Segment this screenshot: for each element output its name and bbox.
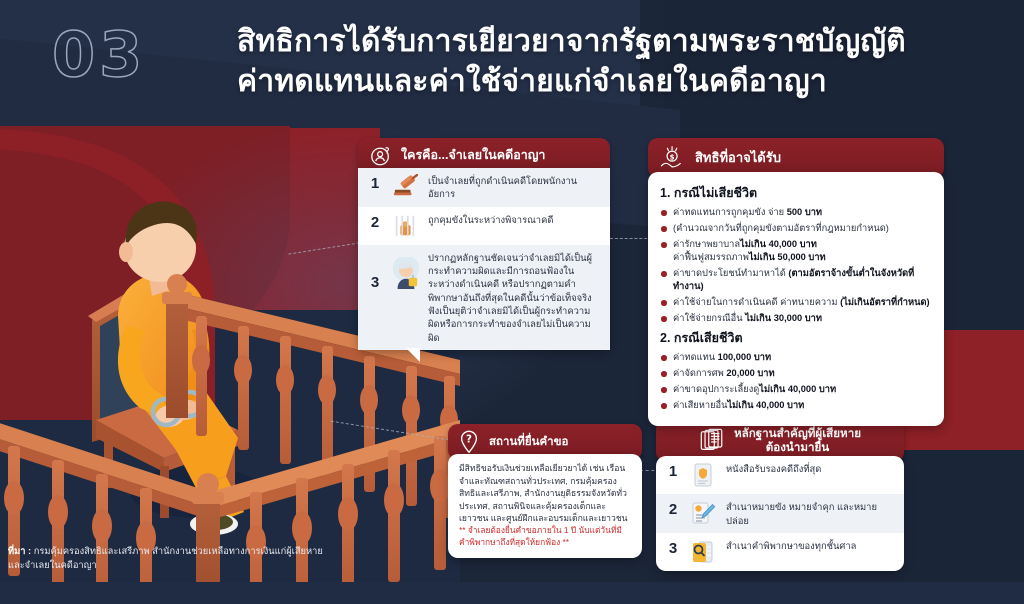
signed-warrant-icon bbox=[688, 500, 718, 526]
card-docs-title: หลักฐานสำคัญที่ผู้เสียหาย ต้องนำมายื่น bbox=[734, 427, 861, 455]
page-title-line-1: สิทธิการได้รับการเยียวยาจากรัฐตามพระราชบ… bbox=[237, 25, 906, 58]
list-item[interactable]: 3 ปรากฏหลักฐานชัดเจนว่าจำเลยมิได้เป็นผู้… bbox=[358, 245, 610, 350]
card-docs-body: 1 หนังสือรับรองคดีถึงที่สุด 2 bbox=[656, 456, 904, 571]
list-item-number: 1 bbox=[666, 462, 680, 482]
list-item-emphasis: ไม่เกิน 40,000 บาท bbox=[727, 400, 804, 410]
card-where-to-apply: ? สถานที่ยื่นคำขอ มีสิทธิขอรับเงินช่วยเห… bbox=[448, 424, 642, 558]
list-item: ค่ารักษาพยาบาลไม่เกิน 40,000 บาท ค่าฟื้น… bbox=[660, 238, 932, 264]
prisoner-behind-bars-icon bbox=[390, 213, 420, 239]
list-item-number: 1 bbox=[368, 174, 382, 194]
list-item-text: ค่าจัดการศพ bbox=[673, 368, 726, 378]
list-item: ค่าจัดการศพ 20,000 บาท bbox=[660, 367, 932, 380]
list-item: ค่าขาดอุปการะเลี้ยงดูไม่เกิน 40,000 บาท bbox=[660, 383, 932, 396]
list-item-number: 3 bbox=[368, 273, 382, 293]
list-item-text: (คำนวณจากวันที่ถูกคุมขังตามอัตราที่กฎหมา… bbox=[673, 223, 889, 233]
list-item[interactable]: 1 เป็นจำเลยที่ถูกดำเนินคดีโดยพนักงานอัยก… bbox=[358, 168, 610, 207]
list-item-text: ค่าขาดอุปการะเลี้ยงดู bbox=[673, 384, 759, 394]
card-where-title: สถานที่ยื่นคำขอ bbox=[489, 435, 568, 449]
list-item[interactable]: 2 สำเนาหมายขัง หมายจำคุก และหมายปล่อย bbox=[656, 494, 904, 533]
list-item-emphasis: ไม่เกิน 40,000 บาท bbox=[740, 239, 817, 249]
list-item-text: สำเนาหมายขัง หมายจำคุก และหมายปล่อย bbox=[726, 500, 894, 527]
page-title: สิทธิการได้รับการเยียวยาจากรัฐตามพระราชบ… bbox=[237, 22, 1007, 102]
section-number: 03 bbox=[52, 18, 146, 91]
list-item-text: ค่าทดแทน bbox=[673, 352, 718, 362]
list-item-text: ปรากฏหลักฐานชัดเจนว่าจำเลยมิได้เป็นผู้กร… bbox=[428, 251, 600, 344]
list-item: ค่าขาดประโยชน์ทำมาหาได้ (ตามอัตราจ้างขั้… bbox=[660, 267, 932, 293]
list-item-emphasis: 100,000 บาท bbox=[718, 352, 771, 362]
list-item-text: เป็นจำเลยที่ถูกดำเนินคดีโดยพนักงานอัยการ bbox=[428, 174, 600, 201]
card-where-note: ** จำเลยต้องยื่นคำขอภายใน 1 ปี นับแต่วัน… bbox=[459, 525, 632, 549]
list-item-emphasis: ไม่เกิน 40,000 บาท bbox=[759, 384, 836, 394]
list-item-text: ค่าทดแทนการถูกคุมขัง จ่าย bbox=[673, 207, 787, 217]
list-item-emphasis: ไม่เกิน 50,000 บาท bbox=[749, 252, 826, 262]
list-item: ค่าทดแทน 100,000 บาท bbox=[660, 351, 932, 364]
person-question-icon bbox=[370, 145, 392, 167]
rights-section-2-list: ค่าทดแทน 100,000 บาท ค่าจัดการศพ 20,000 … bbox=[660, 351, 932, 412]
list-item-number: 2 bbox=[666, 500, 680, 520]
question-pin-icon: ? bbox=[458, 430, 480, 454]
list-item: ค่าทดแทนการถูกคุมขัง จ่าย 500 บาท bbox=[660, 206, 932, 219]
list-item-text: ค่าใช้จ่ายในการดำเนินคดี ค่าทนายความ bbox=[673, 297, 840, 307]
judge-icon bbox=[390, 257, 420, 291]
list-item: ค่าเสียหายอื่นไม่เกิน 40,000 บาท bbox=[660, 399, 932, 412]
list-item-text: ถูกคุมขังในระหว่างพิจารณาคดี bbox=[428, 213, 553, 226]
document-magnifier-icon bbox=[688, 539, 718, 565]
svg-text:$: $ bbox=[670, 152, 675, 161]
card-possible-rights: $ สิทธิที่อาจได้รับ 1. กรณีไม่เสียชีวิต … bbox=[648, 138, 944, 426]
list-item-text: ค่าใช้จ่ายกรณีอื่น bbox=[673, 313, 745, 323]
card-who-pointer bbox=[406, 348, 420, 362]
card-required-documents: หลักฐานสำคัญที่ผู้เสียหาย ต้องนำมายื่น 1 bbox=[656, 420, 904, 571]
card-rights-title: สิทธิที่อาจได้รับ bbox=[695, 150, 781, 166]
documents-stack-icon bbox=[699, 428, 725, 454]
hand-holding-coin-icon: $ bbox=[660, 145, 686, 171]
list-item-number: 3 bbox=[666, 539, 680, 559]
list-item-text: สำเนาคำพิพากษาของทุกชั้นศาล bbox=[726, 539, 856, 552]
list-item-text-continued: ค่าฟื้นฟูสมรรถภาพ bbox=[673, 252, 749, 262]
card-where-text: มีสิทธิขอรับเงินช่วยเหลือเยียวยาได้ เช่น… bbox=[459, 462, 632, 525]
list-item-text: ค่าเสียหายอื่น bbox=[673, 400, 727, 410]
list-item-emphasis: 500 บาท bbox=[787, 207, 822, 217]
source-footer: ที่มา : กรมคุ้มครองสิทธิและเสรีภาพ สำนัก… bbox=[8, 545, 338, 573]
list-item-text: ค่ารักษาพยาบาล bbox=[673, 239, 740, 249]
svg-text:?: ? bbox=[466, 435, 472, 446]
list-item-text: หนังสือรับรองคดีถึงที่สุด bbox=[726, 462, 821, 475]
card-docs-title-line-2: ต้องนำมายื่น bbox=[766, 441, 829, 454]
connector-who-to-rights bbox=[610, 238, 652, 239]
list-item-number: 2 bbox=[368, 213, 382, 233]
gavel-icon bbox=[390, 174, 420, 198]
rights-section-1-list: ค่าทดแทนการถูกคุมขัง จ่าย 500 บาท (คำนวณ… bbox=[660, 206, 932, 325]
infographic-canvas: 03 สิทธิการได้รับการเยียวยาจากรัฐตามพระร… bbox=[0, 0, 1024, 604]
list-item[interactable]: 3 bbox=[656, 533, 904, 571]
card-where-body: มีสิทธิขอรับเงินช่วยเหลือเยียวยาได้ เช่น… bbox=[448, 454, 642, 558]
card-who-body: 1 เป็นจำเลยที่ถูกดำเนินคดีโดยพนักงานอัยก… bbox=[358, 168, 610, 350]
list-item-emphasis: ไม่เกิน 30,000 บาท bbox=[745, 313, 822, 323]
page-title-line-2: ค่าทดแทนและค่าใช้จ่ายแก่จำเลยในคดีอาญา bbox=[237, 62, 1007, 102]
list-item: (คำนวณจากวันที่ถูกคุมขังตามอัตราที่กฎหมา… bbox=[660, 222, 932, 235]
list-item-emphasis: 20,000 บาท bbox=[726, 368, 774, 378]
rights-section-title: 2. กรณีเสียชีวิต bbox=[660, 328, 932, 348]
list-item: ค่าใช้จ่ายกรณีอื่น ไม่เกิน 30,000 บาท bbox=[660, 312, 932, 325]
certificate-document-icon bbox=[688, 462, 718, 488]
list-item: ค่าใช้จ่ายในการดำเนินคดี ค่าทนายความ (ไม… bbox=[660, 296, 932, 309]
rights-section-title: 1. กรณีไม่เสียชีวิต bbox=[660, 183, 932, 203]
card-rights-body: 1. กรณีไม่เสียชีวิต ค่าทดแทนการถูกคุมขัง… bbox=[648, 172, 944, 426]
source-label: ที่มา : bbox=[8, 546, 31, 556]
list-item-emphasis: (ไม่เกินอัตราที่กำหนด) bbox=[840, 297, 930, 307]
list-item-text: ค่าขาดประโยชน์ทำมาหาได้ bbox=[673, 268, 788, 278]
list-item[interactable]: 1 หนังสือรับรองคดีถึงที่สุด bbox=[656, 456, 904, 494]
card-who-title: ใครคือ...จำเลยในคดีอาญา bbox=[401, 148, 545, 163]
list-item[interactable]: 2 ถูกคุมขังในระหว่างพิจารณาคดี bbox=[358, 207, 610, 245]
background-bottom-bar bbox=[0, 582, 1024, 604]
card-docs-title-line-1: หลักฐานสำคัญที่ผู้เสียหาย bbox=[734, 427, 861, 440]
source-text: กรมคุ้มครองสิทธิและเสรีภาพ สำนักงานช่วยเ… bbox=[8, 546, 323, 570]
card-who-is-defendant: ใครคือ...จำเลยในคดีอาญา 1 เป็ bbox=[358, 138, 610, 350]
